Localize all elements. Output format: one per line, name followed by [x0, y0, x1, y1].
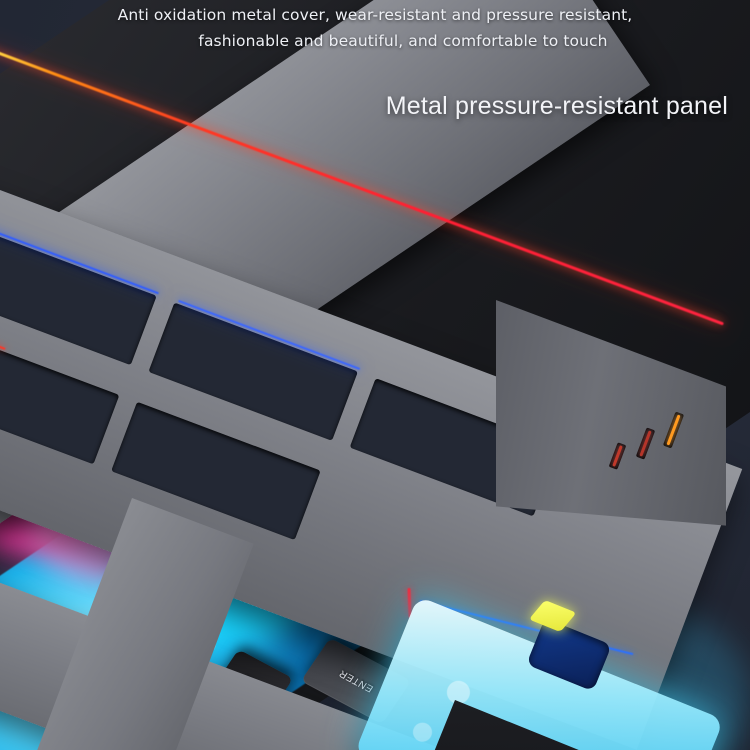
keycap-label: ENTER — [337, 668, 376, 694]
caption-line-1: Anti oxidation metal cover, wear-resista… — [0, 2, 750, 28]
cutout-edge-light-red — [0, 323, 6, 350]
panel-cutout — [0, 227, 157, 365]
page-title: Metal pressure-resistant panel — [0, 92, 728, 121]
product-photo-stage: F10F11F12PRTSCBACKSPACEERINSSCRLKPAUSEHO… — [0, 0, 750, 750]
caption-line-2: fashionable and beautiful, and comfortab… — [0, 28, 750, 54]
product-caption: Anti oxidation metal cover, wear-resista… — [0, 2, 750, 54]
